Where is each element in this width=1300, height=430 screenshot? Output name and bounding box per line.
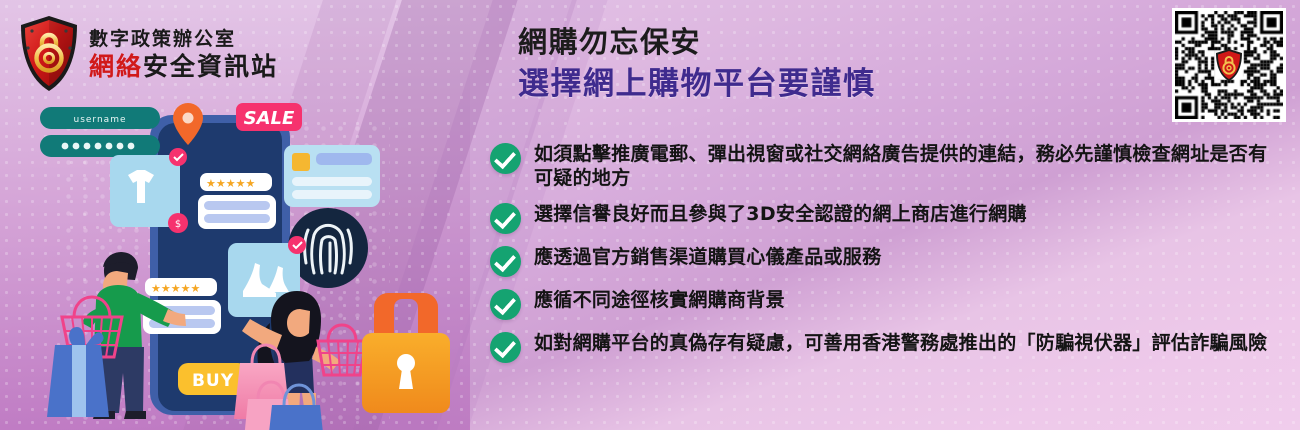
advice-item-text: 如須點擊推廣電郵、彈出視窗或社交網絡廣告提供的連結，務必先謹慎檢查網址是否有可疑… — [534, 142, 1280, 191]
green-check-icon — [490, 332, 521, 363]
qr-center-shield-icon — [1215, 48, 1243, 82]
page-title: 網購勿忘保安 — [518, 26, 876, 59]
sale-badge: SALE — [236, 103, 302, 131]
org-name-black-part: 安全資訊站 — [143, 52, 278, 81]
advice-item: 選擇信譽良好而且參與了3D安全認證的網上商店進行網購 — [490, 202, 1280, 234]
svg-text:★★★★★: ★★★★★ — [151, 282, 200, 295]
green-check-icon — [490, 246, 521, 277]
svg-text:username: username — [74, 115, 127, 125]
tshirt-product-card: $ — [110, 148, 188, 233]
org-name-line1: 數字政策辦公室 — [89, 30, 278, 49]
green-check-icon — [490, 289, 521, 320]
shield-lock-at-icon — [18, 14, 80, 94]
green-check-icon — [490, 143, 521, 174]
advice-item-text: 應循不同途徑核實網購商背景 — [534, 288, 785, 312]
org-name-red-part: 網絡 — [89, 52, 143, 81]
online-shopping-illustration: username SALE — [0, 95, 470, 430]
security-awareness-banner: 數字政策辦公室 網絡安全資訊站 網購勿忘保安 選擇網上購物平台要謹慎 如須點擊推… — [0, 0, 1300, 430]
svg-text:$: $ — [175, 219, 181, 230]
advice-list: 如須點擊推廣電郵、彈出視窗或社交網絡廣告提供的連結，務必先謹慎檢查網址是否有可疑… — [490, 142, 1280, 374]
org-name-line2: 網絡安全資訊站 — [89, 54, 278, 79]
page-subtitle: 選擇網上購物平台要謹慎 — [518, 67, 876, 103]
advice-item: 應透過官方銷售渠道購買心儀產品或服務 — [490, 245, 1280, 277]
green-check-icon — [490, 203, 521, 234]
org-logo-text: 數字政策辦公室 網絡安全資訊站 — [89, 30, 278, 79]
padlock-icon — [362, 293, 450, 413]
login-fields: username — [40, 107, 160, 157]
gift-box-icon — [47, 327, 109, 417]
advice-item: 如對網購平台的真偽存有疑慮，可善用香港警務處推出的「防騙視伏器」評估詐騙風險 — [490, 331, 1280, 363]
product-info-card — [284, 145, 380, 207]
svg-text:SALE: SALE — [244, 108, 295, 129]
svg-text:★★★★★: ★★★★★ — [206, 177, 255, 190]
headings-block: 網購勿忘保安 選擇網上購物平台要謹慎 — [518, 26, 876, 103]
advice-item: 應循不同途徑核實網購商背景 — [490, 288, 1280, 320]
advice-item: 如須點擊推廣電郵、彈出視窗或社交網絡廣告提供的連結，務必先謹慎檢查網址是否有可疑… — [490, 142, 1280, 191]
shopping-basket-icon-2 — [318, 325, 366, 375]
advice-item-text: 如對網購平台的真偽存有疑慮，可善用香港警務處推出的「防騙視伏器」評估詐騙風險 — [534, 331, 1267, 355]
star-rating: ★★★★★ — [198, 173, 276, 229]
advice-item-text: 選擇信譽良好而且參與了3D安全認證的網上商店進行網購 — [534, 202, 1027, 226]
svg-text:BUY: BUY — [192, 371, 234, 391]
qr-code[interactable] — [1172, 8, 1286, 122]
advice-item-text: 應透過官方銷售渠道購買心儀產品或服務 — [534, 245, 881, 269]
org-logo[interactable]: 數字政策辦公室 網絡安全資訊站 — [18, 14, 278, 94]
